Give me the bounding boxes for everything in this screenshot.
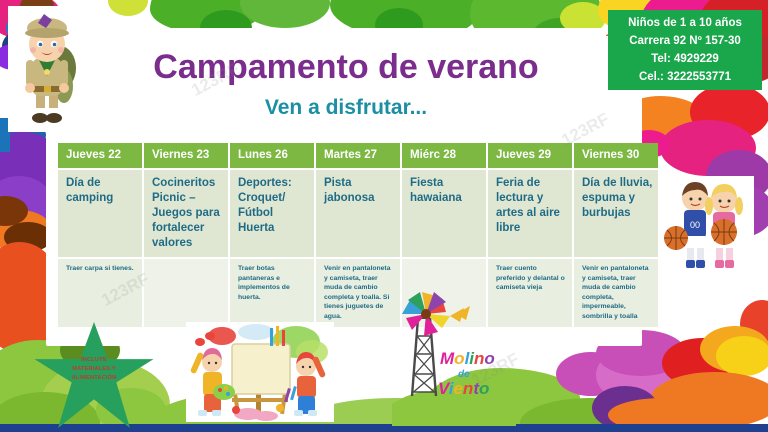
activity-cell: Día de camping bbox=[58, 170, 142, 257]
note-cell: Venir en pantaloneta y camiseta, traer m… bbox=[574, 259, 658, 327]
kids-painting-illustration bbox=[186, 322, 334, 422]
activity-cell: Pista jabonosa bbox=[316, 170, 400, 257]
molino-de-viento-logo: Molino de Viento bbox=[392, 292, 516, 426]
activity-cell: Feria de lectura y artes al aire libre bbox=[488, 170, 572, 257]
star-line-1: INCLUYE bbox=[46, 356, 142, 365]
kids-basketball-illustration: 00 bbox=[662, 176, 754, 272]
col-header-jueves-29: Jueves 29 bbox=[488, 143, 572, 168]
col-header-martes-27: Martes 27 bbox=[316, 143, 400, 168]
poster-subtitle: Ven a disfrutar... bbox=[46, 96, 646, 120]
col-header-lunes-26: Lunes 26 bbox=[230, 143, 314, 168]
activity-cell: Día de lluvia, espuma y burbujas bbox=[574, 170, 658, 257]
svg-text:Viento: Viento bbox=[438, 379, 489, 398]
col-header-viernes-30: Viernes 30 bbox=[574, 143, 658, 168]
schedule-table: Jueves 22 Viernes 23 Lunes 26 Martes 27 … bbox=[56, 141, 660, 329]
note-cell bbox=[144, 259, 228, 327]
star-badge-text: INCLUYE MATERIALES Y ALIMENTACIÓN bbox=[46, 356, 142, 383]
table-activity-row: Día de camping Cocineritos Picnic – Jueg… bbox=[58, 170, 658, 257]
activity-cell: Deportes: Croquet/ Fútbol Huerta bbox=[230, 170, 314, 257]
table-header-row: Jueves 22 Viernes 23 Lunes 26 Martes 27 … bbox=[58, 143, 658, 168]
star-line-3: ALIMENTACIÓN bbox=[46, 374, 142, 383]
table-note-row: Traer carpa si tienes. Traer botas panta… bbox=[58, 259, 658, 327]
info-line-address: Carrera 92 Nº 157-30 bbox=[610, 32, 760, 50]
info-line-tel: Tel: 4929229 bbox=[610, 50, 760, 68]
info-line-cel: Cel.: 3222553771 bbox=[610, 68, 760, 86]
contact-info-box: Niños de 1 a 10 años Carrera 92 Nº 157-3… bbox=[608, 10, 762, 90]
activity-cell: Cocineritos Picnic – Juegos para fortale… bbox=[144, 170, 228, 257]
note-cell: Venir en pantaloneta y camiseta, traer m… bbox=[316, 259, 400, 327]
col-header-jueves-22: Jueves 22 bbox=[58, 143, 142, 168]
col-header-viernes-23: Viernes 23 bbox=[144, 143, 228, 168]
col-header-mierc-28: Miérc 28 bbox=[402, 143, 486, 168]
svg-text:Molino: Molino bbox=[440, 349, 495, 368]
activity-cell: Fiesta hawaiana bbox=[402, 170, 486, 257]
poster-canvas: Niños de 1 a 10 años Carrera 92 Nº 157-3… bbox=[0, 0, 768, 432]
poster-title: Campamento de verano bbox=[46, 48, 646, 87]
info-line-ages: Niños de 1 a 10 años bbox=[610, 14, 760, 32]
note-cell: Traer botas pantaneras e implementos de … bbox=[230, 259, 314, 327]
star-line-2: MATERIALES Y bbox=[46, 365, 142, 374]
includes-star-badge: INCLUYE MATERIALES Y ALIMENTACIÓN bbox=[32, 322, 156, 428]
note-cell: Traer carpa si tienes. bbox=[58, 259, 142, 327]
svg-text:00: 00 bbox=[690, 220, 700, 230]
